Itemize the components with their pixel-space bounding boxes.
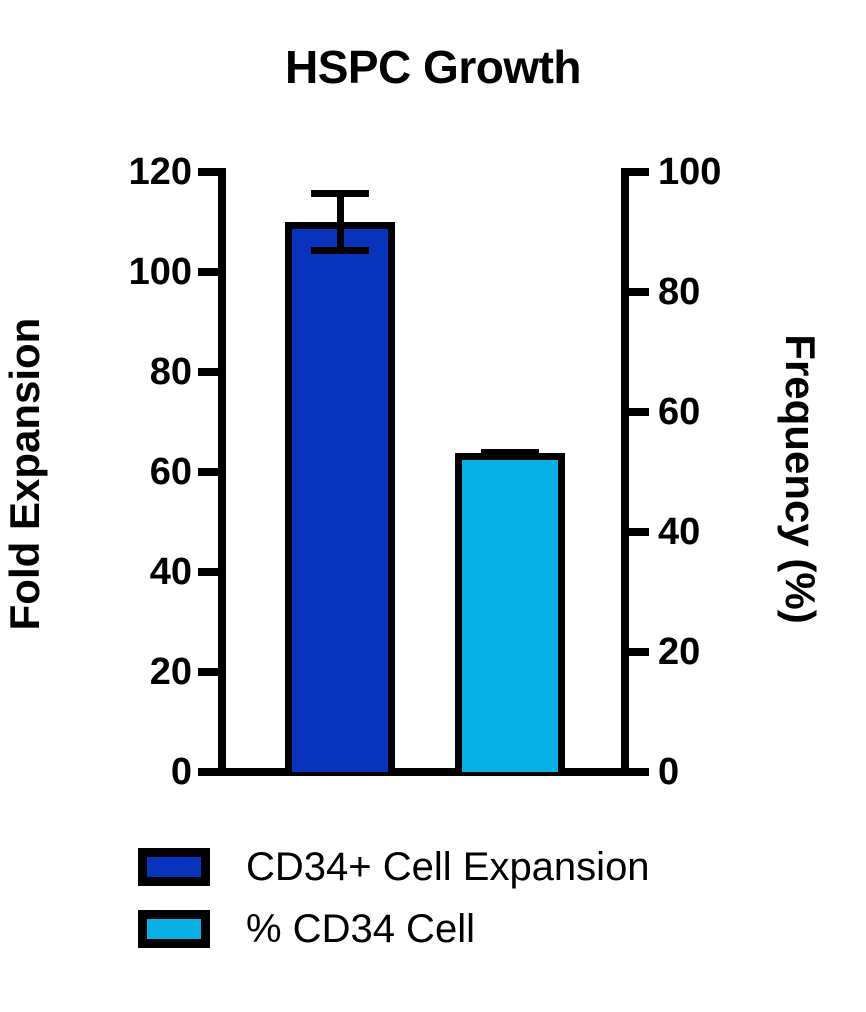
bar-cd34-cell-expansion[interactable] bbox=[285, 222, 395, 772]
left-tick-mark-0 bbox=[198, 768, 220, 776]
bar-percent-cd34-cell[interactable] bbox=[455, 453, 565, 772]
legend-item-cd34-cell-expansion[interactable]: CD34+ Cell Expansion bbox=[138, 836, 798, 898]
right-tick-mark-80 bbox=[627, 288, 649, 296]
right-tick-mark-100 bbox=[627, 168, 649, 176]
right-tick-mark-60 bbox=[627, 408, 649, 416]
right-tick-40: 40 bbox=[658, 513, 700, 551]
errorbar-cap-upper bbox=[311, 190, 369, 197]
right-tick-100: 100 bbox=[658, 153, 721, 191]
left-tick-80: 80 bbox=[150, 353, 192, 391]
left-tick-100: 100 bbox=[129, 253, 192, 291]
left-tick-mark-80 bbox=[198, 368, 220, 376]
left-tick-mark-120 bbox=[198, 168, 220, 176]
right-tick-mark-40 bbox=[627, 528, 649, 536]
left-tick-mark-40 bbox=[198, 568, 220, 576]
plot-area bbox=[222, 172, 625, 772]
left-axis-title: Fold Expansion bbox=[1, 214, 49, 734]
right-tick-80: 80 bbox=[658, 273, 700, 311]
errorbar-percent-cd34-cell bbox=[455, 449, 565, 456]
right-tick-60: 60 bbox=[658, 393, 700, 431]
left-tick-20: 20 bbox=[150, 653, 192, 691]
left-tick-mark-60 bbox=[198, 468, 220, 476]
errorbar-cap-lower bbox=[311, 247, 369, 254]
left-tick-60: 60 bbox=[150, 453, 192, 491]
right-axis-spine bbox=[621, 168, 629, 776]
right-tick-20: 20 bbox=[658, 633, 700, 671]
legend-swatch-percent-cd34-cell bbox=[138, 910, 210, 948]
errorbar-stem bbox=[337, 190, 344, 254]
chart-figure: HSPC Growth 120 100 80 60 40 20 0 100 80… bbox=[0, 0, 866, 1012]
chart-legend: CD34+ Cell Expansion % CD34 Cell bbox=[138, 836, 798, 960]
legend-label-percent-cd34-cell: % CD34 Cell bbox=[246, 907, 475, 952]
legend-item-percent-cd34-cell[interactable]: % CD34 Cell bbox=[138, 898, 798, 960]
legend-label-cd34-cell-expansion: CD34+ Cell Expansion bbox=[246, 845, 650, 890]
right-tick-mark-0 bbox=[627, 768, 649, 776]
legend-swatch-cd34-cell-expansion bbox=[138, 848, 210, 886]
right-tick-0: 0 bbox=[658, 753, 679, 791]
right-tick-mark-20 bbox=[627, 648, 649, 656]
errorbar-cap-lower bbox=[481, 449, 539, 456]
left-tick-mark-100 bbox=[198, 268, 220, 276]
left-tick-0: 0 bbox=[171, 753, 192, 791]
left-tick-120: 120 bbox=[129, 153, 192, 191]
chart-title: HSPC Growth bbox=[0, 40, 866, 94]
bottom-axis-spine bbox=[218, 768, 629, 776]
right-axis-title: Frequency (%) bbox=[776, 219, 824, 739]
errorbar-cd34-cell-expansion bbox=[285, 190, 395, 254]
left-tick-40: 40 bbox=[150, 553, 192, 591]
left-tick-mark-20 bbox=[198, 668, 220, 676]
right-axis-ticklabels: 100 80 60 40 20 0 bbox=[658, 172, 778, 772]
